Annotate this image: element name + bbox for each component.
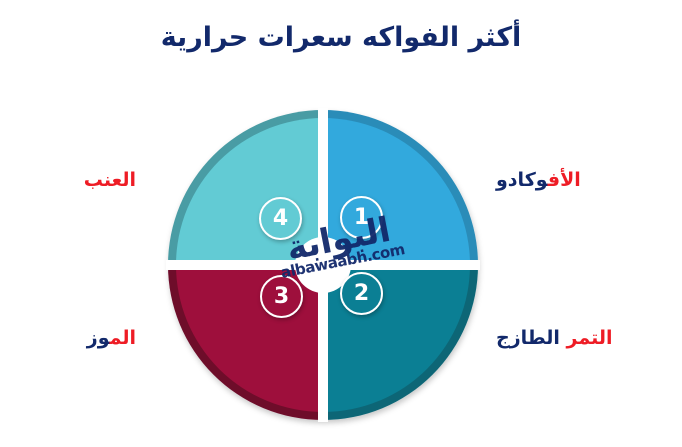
- rank-badge-3[interactable]: 3: [260, 275, 303, 318]
- rank-badge-1[interactable]: 1: [340, 196, 383, 239]
- category-label-grapes-part1: العنب: [84, 169, 136, 191]
- rank-badge-4[interactable]: 4: [259, 197, 302, 240]
- category-label-avocado-part2: وكادو: [496, 169, 548, 191]
- infographic-canvas: أكثر الفواكه سعرات حرارية: [0, 0, 682, 447]
- category-label-dates-part1: التمر: [560, 327, 613, 349]
- category-label-banana-part2: وز: [87, 327, 110, 349]
- rank-badge-2[interactable]: 2: [340, 272, 383, 315]
- donut-chart-svg: [166, 108, 480, 422]
- category-label-banana-part1: الم: [110, 327, 136, 349]
- category-label-avocado: الأفوكادو: [496, 170, 581, 192]
- category-label-grapes: العنب: [84, 170, 136, 192]
- category-label-dates: التمر الطازج: [496, 328, 613, 350]
- category-label-avocado-part1: الأف: [548, 169, 581, 191]
- category-label-banana: الموز: [87, 328, 136, 350]
- donut-chart: [166, 108, 480, 422]
- category-label-dates-part2: الطازج: [496, 327, 560, 349]
- page-title: أكثر الفواكه سعرات حرارية: [0, 22, 682, 54]
